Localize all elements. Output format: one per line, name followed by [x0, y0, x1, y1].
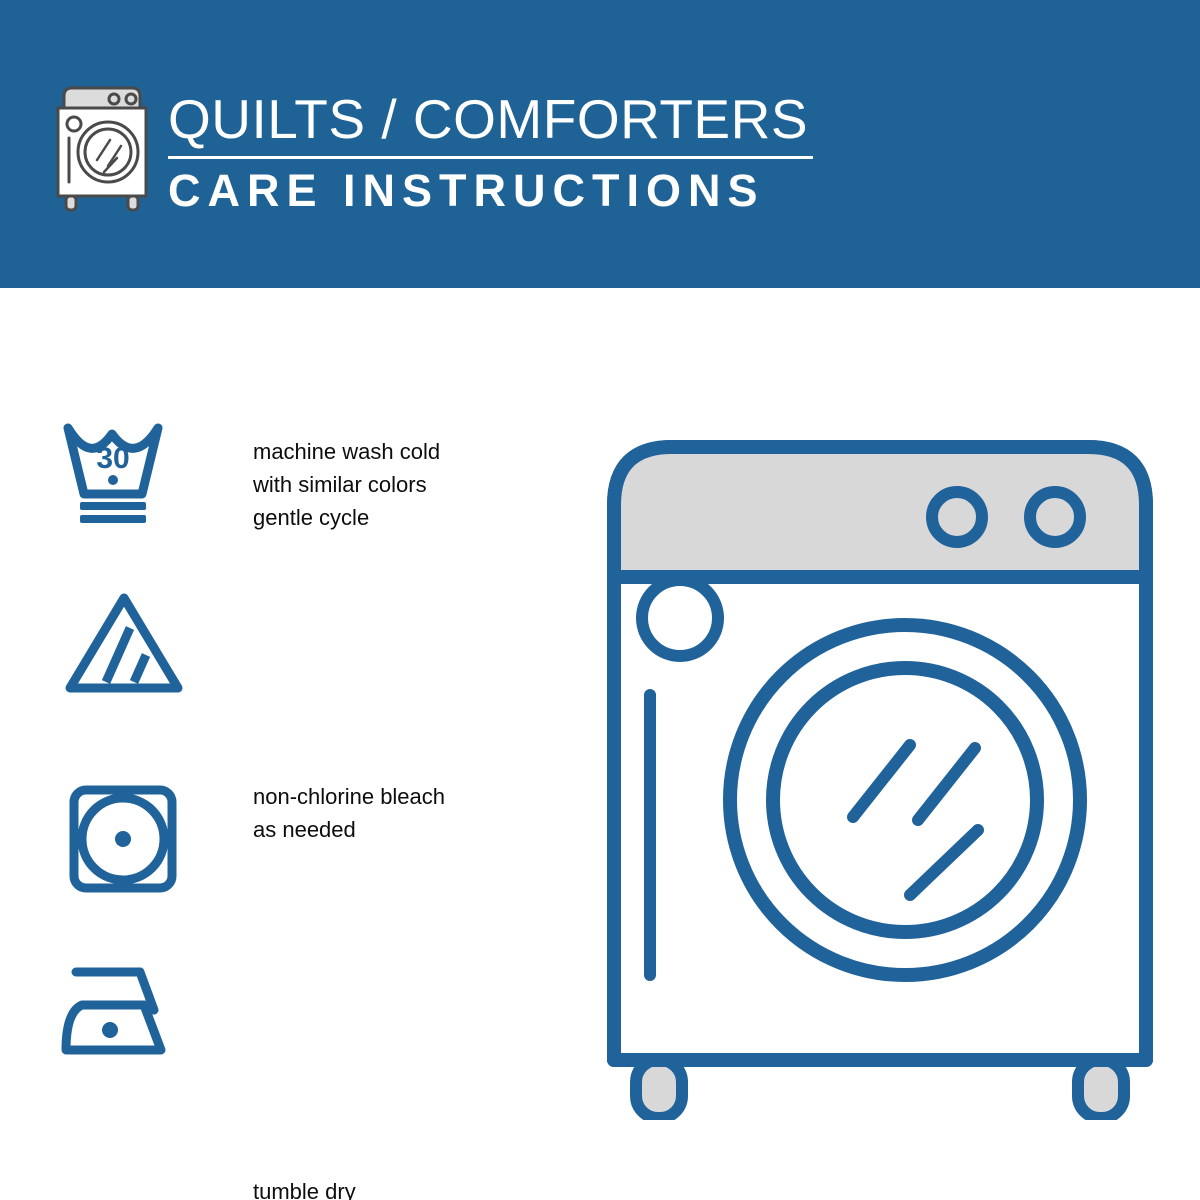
iron-low-heat-icon — [58, 950, 198, 1070]
page-subtitle: CARE INSTRUCTIONS — [168, 165, 828, 217]
washing-machine-illustration — [600, 405, 1160, 1120]
care-text-line: tumble dry — [253, 1175, 356, 1200]
machine-foot-left — [636, 1060, 682, 1118]
header-title-block: QUILTS / COMFORTERS CARE INSTRUCTIONS — [168, 88, 828, 217]
care-text-line: gentle cycle — [253, 501, 440, 534]
care-instructions-infographic: QUILTS / COMFORTERS CARE INSTRUCTIONS 30 — [0, 0, 1200, 1200]
washing-machine-icon — [52, 82, 156, 212]
care-text-line: non-chlorine bleach — [253, 780, 445, 813]
iron-dot — [102, 1022, 118, 1038]
care-item-machine-wash-text: machine wash cold with similar colors ge… — [253, 435, 440, 534]
page-title: QUILTS / COMFORTERS — [168, 88, 828, 150]
care-text-line: as needed — [253, 813, 445, 846]
header-banner: QUILTS / COMFORTERS CARE INSTRUCTIONS — [0, 0, 1200, 288]
non-chlorine-bleach-triangle-icon — [58, 580, 198, 700]
wash-dot — [108, 475, 118, 485]
wash-tub-30-gentle-icon: 30 — [58, 410, 198, 530]
care-text-line: machine wash cold — [253, 435, 440, 468]
care-text-line: with similar colors — [253, 468, 440, 501]
machine-control-panel — [614, 447, 1146, 577]
title-divider — [168, 156, 813, 159]
tumble-dry-dot — [115, 831, 131, 847]
wash-temperature-label: 30 — [96, 442, 129, 475]
care-item-bleach-text: non-chlorine bleach as needed — [253, 780, 445, 846]
care-item-tumble-dry-text: tumble dry low heat — [253, 1175, 356, 1200]
tumble-dry-low-heat-icon — [58, 775, 198, 895]
machine-foot-right — [1078, 1060, 1124, 1118]
